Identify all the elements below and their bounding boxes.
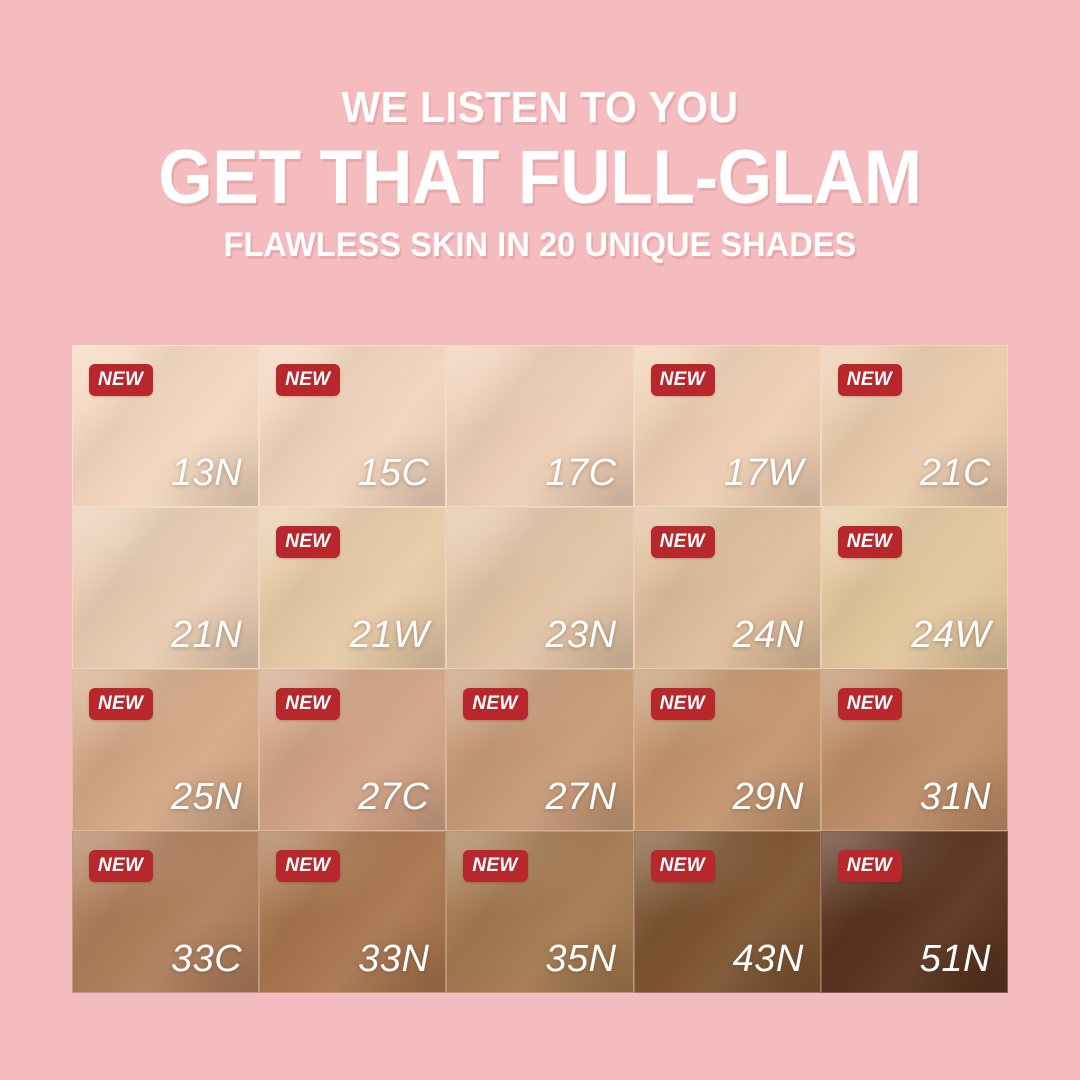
- shade-label: 27N: [545, 778, 616, 816]
- shade-swatch[interactable]: NEW33C: [72, 831, 259, 993]
- shade-swatch[interactable]: NEW21W: [259, 507, 446, 669]
- shade-label: 21N: [171, 616, 242, 654]
- shade-label: 31N: [920, 778, 991, 816]
- shade-swatch[interactable]: NEW27C: [259, 669, 446, 831]
- shade-swatch[interactable]: NEW23N: [446, 507, 633, 669]
- shade-range-poster: WE LISTEN TO YOU GET THAT FULL-GLAM FLAW…: [0, 0, 1080, 1080]
- shade-label: 43N: [733, 940, 804, 978]
- shade-label: 17C: [545, 454, 616, 492]
- new-badge: NEW: [651, 850, 715, 882]
- shade-swatch[interactable]: NEW17C: [446, 345, 633, 507]
- shade-label: 33C: [171, 940, 242, 978]
- headline-eyebrow: WE LISTEN TO YOU: [38, 86, 1042, 131]
- new-badge: NEW: [838, 850, 902, 882]
- new-badge: NEW: [276, 850, 340, 882]
- new-badge: NEW: [276, 364, 340, 396]
- shade-swatch-grid: NEW13NNEW15CNEW17CNEW17WNEW21CNEW21NNEW2…: [72, 345, 1008, 993]
- new-badge: NEW: [89, 688, 153, 720]
- shade-label: 35N: [545, 940, 616, 978]
- shade-swatch[interactable]: NEW15C: [259, 345, 446, 507]
- shade-label: 29N: [733, 778, 804, 816]
- shade-swatch[interactable]: NEW21C: [821, 345, 1008, 507]
- shade-label: 21W: [350, 616, 430, 654]
- new-badge: NEW: [89, 850, 153, 882]
- shade-swatch[interactable]: NEW27N: [446, 669, 633, 831]
- shade-label: 33N: [358, 940, 429, 978]
- shade-swatch[interactable]: NEW24N: [634, 507, 821, 669]
- shade-swatch[interactable]: NEW13N: [72, 345, 259, 507]
- shade-label: 25N: [171, 778, 242, 816]
- headline-block: WE LISTEN TO YOU GET THAT FULL-GLAM FLAW…: [0, 86, 1080, 263]
- shade-swatch[interactable]: NEW24W: [821, 507, 1008, 669]
- new-badge: NEW: [838, 688, 902, 720]
- shade-swatch[interactable]: NEW51N: [821, 831, 1008, 993]
- shade-label: 21C: [920, 454, 991, 492]
- new-badge: NEW: [276, 688, 340, 720]
- shade-label: 23N: [545, 616, 616, 654]
- shade-swatch[interactable]: NEW25N: [72, 669, 259, 831]
- shade-label: 27C: [358, 778, 429, 816]
- shade-swatch[interactable]: NEW17W: [634, 345, 821, 507]
- shade-label: 15C: [358, 454, 429, 492]
- shade-label: 51N: [920, 940, 991, 978]
- headline-subtitle: FLAWLESS SKIN IN 20 UNIQUE SHADES: [27, 228, 1053, 263]
- shade-swatch[interactable]: NEW33N: [259, 831, 446, 993]
- new-badge: NEW: [463, 850, 527, 882]
- shade-swatch[interactable]: NEW21N: [72, 507, 259, 669]
- new-badge: NEW: [651, 688, 715, 720]
- new-badge: NEW: [463, 688, 527, 720]
- new-badge: NEW: [651, 526, 715, 558]
- shade-swatch[interactable]: NEW31N: [821, 669, 1008, 831]
- new-badge: NEW: [276, 526, 340, 558]
- shade-label: 17W: [724, 454, 804, 492]
- shade-label: 24W: [911, 616, 991, 654]
- new-badge: NEW: [838, 526, 902, 558]
- shade-swatch[interactable]: NEW43N: [634, 831, 821, 993]
- new-badge: NEW: [838, 364, 902, 396]
- new-badge: NEW: [651, 364, 715, 396]
- shade-swatch[interactable]: NEW35N: [446, 831, 633, 993]
- shade-label: 13N: [171, 454, 242, 492]
- shade-swatch[interactable]: NEW29N: [634, 669, 821, 831]
- shade-label: 24N: [733, 616, 804, 654]
- headline-main: GET THAT FULL-GLAM: [43, 139, 1037, 217]
- new-badge: NEW: [89, 364, 153, 396]
